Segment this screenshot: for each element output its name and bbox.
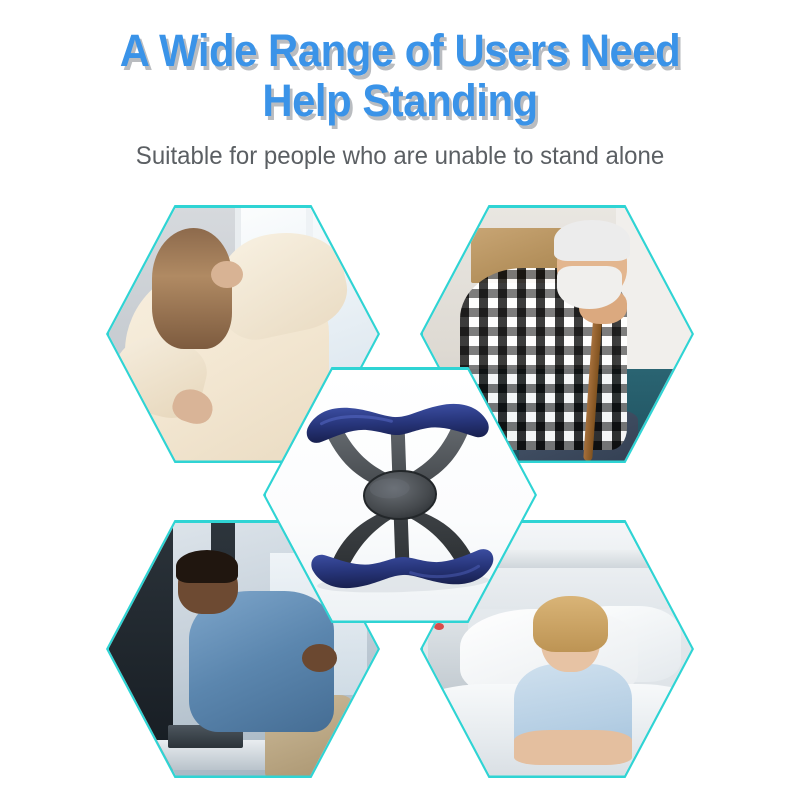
poster-root: A Wide Range of Users Need Help Standing… — [0, 0, 800, 800]
person-hair — [176, 550, 238, 583]
tile-alt-text: Elderly bearded man in a black and white… — [423, 208, 424, 209]
person-hand-back — [302, 644, 337, 672]
patient-hair — [533, 596, 608, 652]
tile-alt-text: Man in a blue denim shirt bending over a… — [109, 523, 110, 524]
person-hair — [152, 228, 233, 349]
person-beard — [557, 266, 622, 309]
dark-wall — [109, 523, 174, 776]
page-subtitle: Suitable for people who are unable to st… — [16, 140, 784, 172]
standing-aid-product-illustration — [281, 391, 520, 599]
tile-alt-text: Woman in cream blouse holding her lower … — [109, 208, 110, 209]
page-title: A Wide Range of Users Need Help Standing — [28, 26, 772, 126]
person-hand-neck — [211, 261, 243, 289]
person-hair — [554, 220, 629, 260]
patient-arms — [514, 730, 632, 765]
person-arm — [195, 684, 254, 755]
